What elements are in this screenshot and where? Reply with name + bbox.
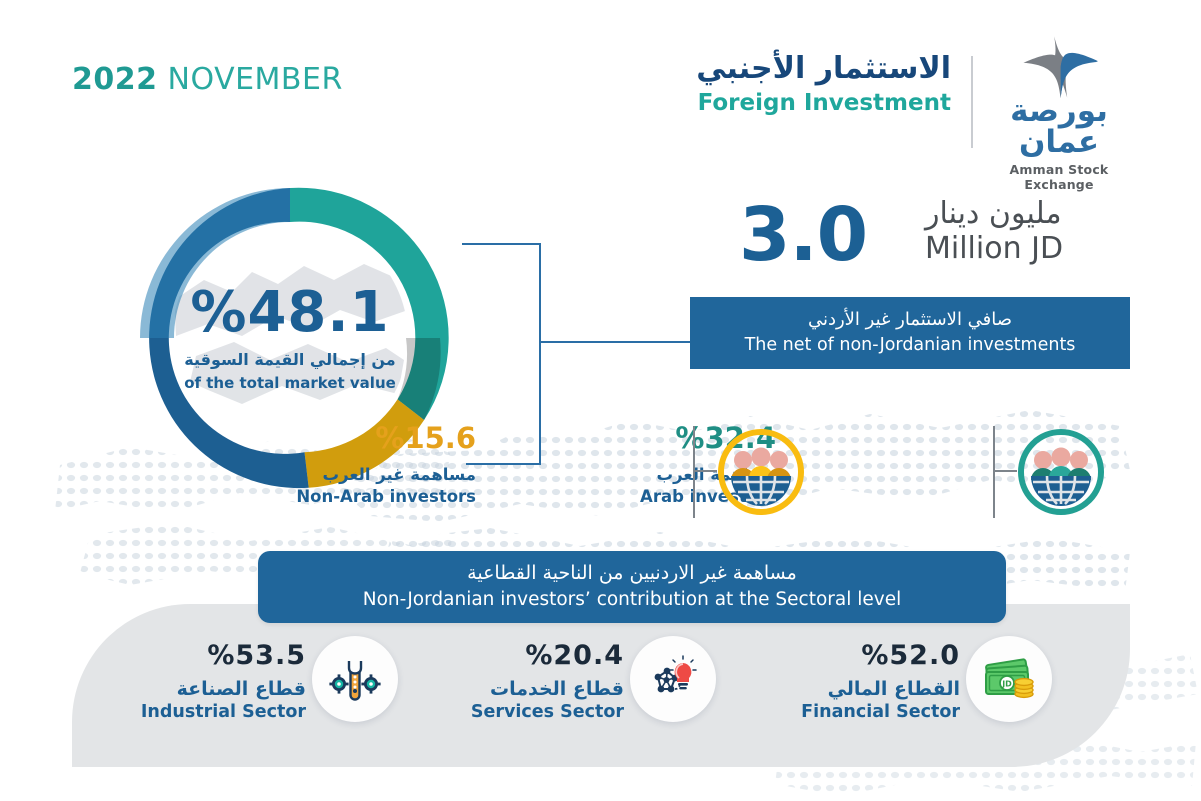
non-arab-investors-percent: %15.6 — [246, 424, 476, 453]
title-divider — [971, 56, 973, 148]
date-year: 2022 — [72, 62, 158, 97]
ase-logo-english: Amman Stock Exchange — [975, 162, 1143, 192]
sector-industrial-icon-wrap — [312, 636, 398, 722]
non-arab-investors-label-arabic: مساهمة غير العرب — [246, 465, 476, 484]
net-banner-english: The net of non-Jordanian investments — [745, 334, 1076, 357]
donut-caption-english: of the total market value — [184, 374, 396, 392]
page-title-arabic: الاستثمار الأجنبي — [696, 52, 951, 87]
arab-investors-icon-wrap — [1013, 424, 1109, 524]
four-point-star-icon — [1016, 34, 1102, 100]
banknotes-coins-icon: JD — [980, 650, 1038, 708]
sector-financial-label-english: Financial Sector — [801, 702, 960, 722]
sector-banner: مساهمة غير الاردنيين من الناحية القطاعية… — [258, 551, 1006, 623]
globe-people-icon — [1013, 424, 1109, 520]
connector-top-horizontal — [462, 243, 541, 245]
net-unit-arabic: مليون دينار — [925, 196, 1063, 231]
page-title-english: Foreign Investment — [696, 90, 951, 118]
connector-middle-horizontal — [539, 341, 692, 343]
sector-financial-label-arabic: القطاع المالي — [801, 678, 960, 700]
ase-logo-arabic: بورصة عمان — [975, 96, 1143, 158]
lightbulb-network-icon — [645, 651, 701, 707]
net-investment-value: 3.0 — [739, 198, 867, 272]
connector-bottom-horizontal — [466, 463, 541, 465]
net-investment-unit: مليون دينار Million JD — [925, 196, 1063, 267]
sector-financial-percent: %52.0 — [801, 642, 960, 669]
sector-industrial-text: %53.5 قطاع الصناعة Industrial Sector — [141, 642, 306, 722]
net-banner-arabic: صافي الاستثمار غير الأردني — [808, 309, 1012, 332]
sector-banner-arabic: مساهمة غير الاردنيين من الناحية القطاعية — [467, 562, 797, 586]
sector-financial-text: %52.0 القطاع المالي Financial Sector — [801, 642, 960, 722]
page-title: الاستثمار الأجنبي Foreign Investment — [696, 52, 951, 117]
sector-financial: %52.0 القطاع المالي Financial Sector JD — [780, 636, 960, 746]
donut-percent-value: %48.1 — [190, 285, 389, 341]
sector-financial-icon-wrap: JD — [966, 636, 1052, 722]
net-unit-english: Million JD — [925, 231, 1063, 266]
connector-vertical — [539, 243, 541, 465]
net-investment-banner: صافي الاستثمار غير الأردني The net of no… — [690, 297, 1130, 369]
sector-industrial-label-arabic: قطاع الصناعة — [141, 678, 306, 700]
sector-industrial-percent: %53.5 — [141, 642, 306, 669]
sector-services-text: %20.4 قطاع الخدمات Services Sector — [471, 642, 624, 722]
date-header: 2022 NOVEMBER — [72, 62, 343, 97]
non-arab-investors-label-english: Non-Arab investors — [246, 487, 476, 506]
svg-text:JD: JD — [1001, 680, 1012, 689]
date-month: NOVEMBER — [168, 62, 343, 97]
non-arab-investors-icon-wrap — [713, 424, 809, 524]
infographic-canvas: 2022 NOVEMBER الاستثمار الأجنبي Foreign … — [0, 0, 1201, 801]
ase-logo: بورصة عمان Amman Stock Exchange — [975, 34, 1143, 192]
sector-banner-english: Non-Jordanian investors’ contribution at… — [363, 588, 901, 612]
sector-services-label-arabic: قطاع الخدمات — [471, 678, 624, 700]
sector-services-percent: %20.4 — [471, 642, 624, 669]
globe-people-icon — [713, 424, 809, 520]
sector-services-label-english: Services Sector — [471, 702, 624, 722]
sector-industrial-label-english: Industrial Sector — [141, 702, 306, 722]
sector-services-icon-wrap — [630, 636, 716, 722]
wrench-gears-icon — [327, 651, 383, 707]
non-arab-investors-tick-vertical — [693, 426, 695, 518]
arab-investors-tick-vertical — [993, 426, 995, 518]
non-arab-investors-text: %15.6 مساهمة غير العرب Non-Arab investor… — [246, 424, 476, 506]
donut-caption-arabic: من إجمالي القيمة السوقية — [184, 350, 395, 369]
sector-services: %20.4 قطاع الخدمات Services Sector — [444, 636, 624, 746]
sector-industrial: %53.5 قطاع الصناعة Industrial Sector — [126, 636, 306, 746]
